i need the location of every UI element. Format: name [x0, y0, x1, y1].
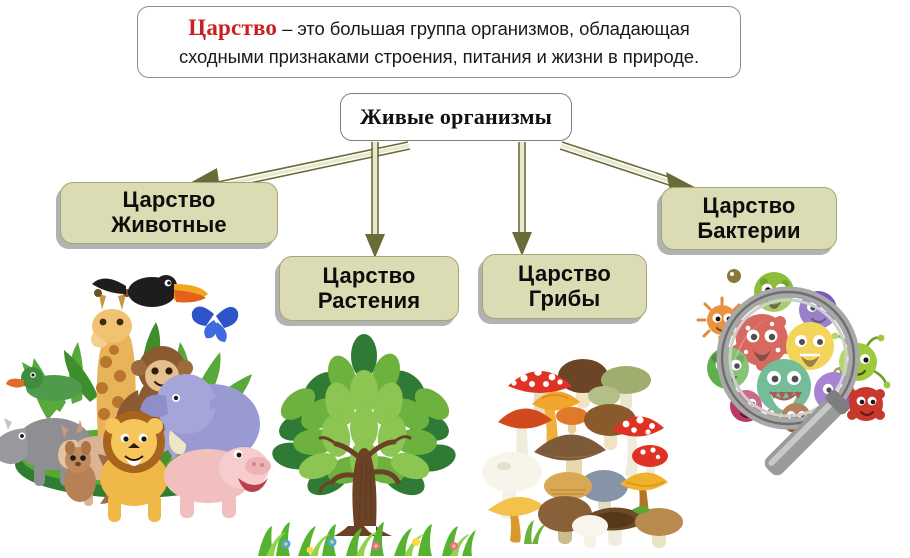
root-node-living-organisms: Живые организмы: [340, 93, 572, 141]
kingdom-box-bacteria: Царство Бактерии: [661, 187, 837, 250]
kingdom-fungi-line1: Царство: [518, 261, 611, 286]
kingdom-label-plants: Царство Растения: [318, 264, 420, 313]
magnifier-icon: [722, 292, 854, 480]
arrow-to-fungi: [510, 142, 534, 258]
kingdom-animals-line1: Царство: [123, 187, 216, 212]
kingdom-fungi-line2: Грибы: [529, 286, 600, 311]
kingdom-label-animals: Царство Животные: [111, 188, 226, 237]
tree-illustration: Дерево с коричневым стволом и зелёной кр…: [258, 330, 476, 558]
kingdom-box-fungi: Царство Грибы: [482, 254, 647, 319]
kingdom-bacteria-line2: Бактерии: [697, 218, 800, 243]
kingdom-bacteria-line1: Царство: [703, 193, 796, 218]
kingdom-label-fungi: Царство Грибы: [518, 262, 611, 311]
bacteria-magnifier-illustration: Микробы с мордочками под увеличительным …: [688, 258, 908, 508]
definition-banner: Царство – это большая группа организмов,…: [137, 6, 741, 78]
kingdom-plants-line2: Растения: [318, 288, 420, 313]
definition-text: Царство – это большая группа организмов,…: [150, 12, 728, 71]
definition-term: Царство: [188, 15, 277, 40]
arrow-to-plants: [363, 142, 387, 260]
kingdom-box-animals: Царство Животные: [60, 182, 278, 244]
root-node-label: Живые организмы: [360, 104, 552, 130]
diagram-canvas: Царство – это большая группа организмов,…: [0, 0, 910, 558]
kingdom-plants-line1: Царство: [323, 263, 416, 288]
animals-illustration: Жираф, слон, лев, бегемот, носорог, обез…: [2, 252, 264, 502]
kingdom-box-plants: Царство Растения: [279, 256, 459, 321]
kingdom-label-bacteria: Царство Бактерии: [697, 194, 800, 243]
mushrooms-illustration: Группа грибов: мухоморы, белые грибы, ли…: [480, 348, 680, 548]
kingdom-animals-line2: Животные: [111, 212, 226, 237]
